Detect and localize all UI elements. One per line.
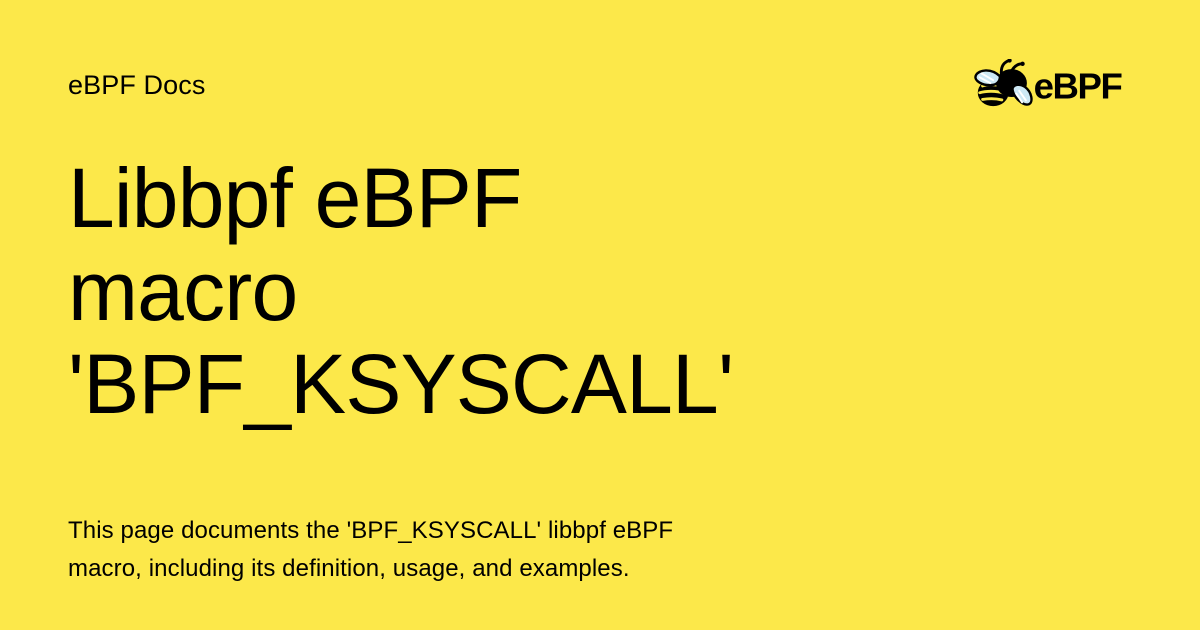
title-block: Libbpf eBPF macro 'BPF_KSYSCALL' bbox=[68, 152, 1080, 431]
bee-icon bbox=[975, 59, 1031, 106]
site-name: eBPF Docs bbox=[68, 72, 205, 99]
description-block: This page documents the 'BPF_KSYSCALL' l… bbox=[68, 512, 848, 588]
svg-text:eBPF: eBPF bbox=[1034, 65, 1122, 106]
ebpf-wordmark: eBPF bbox=[1034, 65, 1122, 106]
page-title: Libbpf eBPF macro 'BPF_KSYSCALL' bbox=[68, 152, 1080, 431]
social-preview-card: eBPF Docs bbox=[0, 0, 1200, 630]
ebpf-logo: eBPF bbox=[972, 58, 1126, 112]
page-description: This page documents the 'BPF_KSYSCALL' l… bbox=[68, 512, 848, 588]
page-header: eBPF Docs bbox=[68, 58, 1126, 112]
